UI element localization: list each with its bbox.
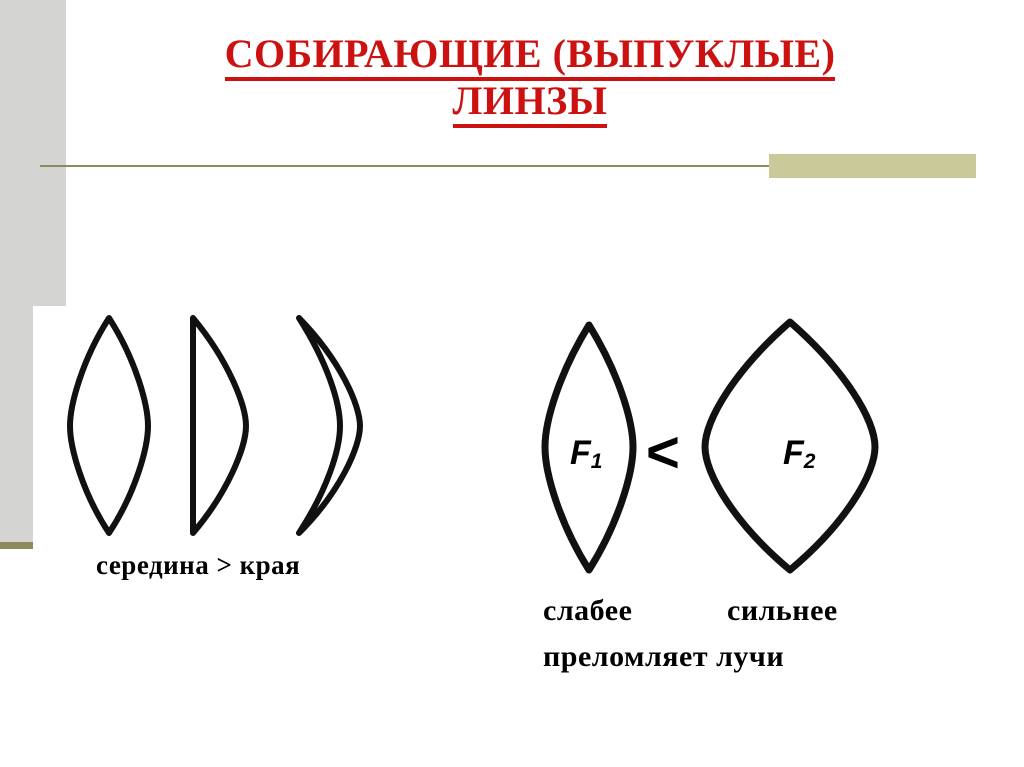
sidebar-band-lower (0, 306, 33, 544)
caption-middle-greater-edges: середина > края (96, 550, 300, 581)
biconvex-lens (70, 318, 148, 533)
caption-weaker: слабее (543, 594, 632, 628)
caption-refracts-rays: преломляет лучи (543, 640, 784, 674)
header-accent-block (769, 154, 976, 178)
title-line-2: ЛИНЗЫ (100, 77, 960, 124)
less-than-sign: < (646, 424, 680, 482)
sidebar-band-upper (0, 0, 66, 306)
page-title: СОБИРАЮЩИЕ (ВЫПУКЛЫЕ) ЛИНЗЫ (100, 30, 960, 124)
slide-canvas: СОБИРАЮЩИЕ (ВЫПУКЛЫЕ) ЛИНЗЫ F1 F2 < сере… (0, 0, 1024, 767)
caption-stronger: сильнее (727, 594, 838, 628)
focal-label-f1: F1 (570, 434, 602, 474)
title-line-1: СОБИРАЮЩИЕ (ВЫПУКЛЫЕ) (100, 30, 960, 77)
meniscus-lens (299, 318, 360, 533)
focal-label-f2: F2 (783, 434, 815, 474)
sidebar-foot-rule (0, 542, 33, 549)
plano-convex-lens (193, 318, 246, 533)
